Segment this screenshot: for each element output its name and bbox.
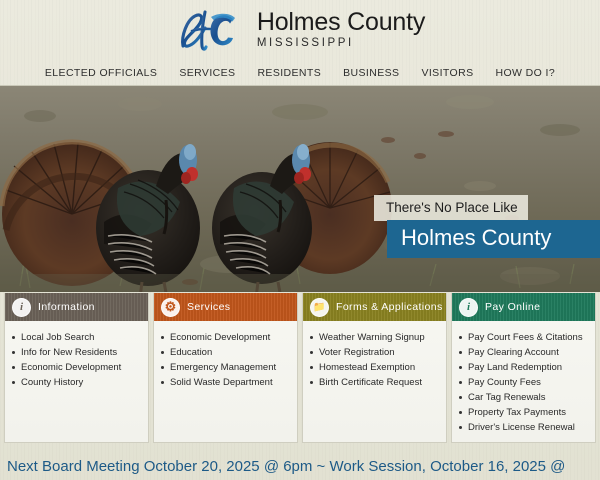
nav-services[interactable]: SERVICES xyxy=(179,67,235,79)
list-item[interactable]: Weather Warning Signup xyxy=(319,330,440,345)
list-item[interactable]: Pay County Fees xyxy=(468,375,589,390)
main-navigation: ELECTED OFFICIALS SERVICES RESIDENTS BUS… xyxy=(0,60,600,86)
quick-link-boxes: i Information Local Job Search Info for … xyxy=(0,293,600,443)
box-information-list: Local Job Search Info for New Residents … xyxy=(5,321,148,396)
list-item[interactable]: Info for New Residents xyxy=(21,345,142,360)
list-item[interactable]: Pay Court Fees & Citations xyxy=(468,330,589,345)
hero-turkey-photo xyxy=(0,86,600,292)
box-forms-list: Weather Warning Signup Voter Registratio… xyxy=(303,321,446,396)
nav-how-do-i[interactable]: HOW DO I? xyxy=(495,67,555,79)
list-item[interactable]: Economic Development xyxy=(21,360,142,375)
info-icon: i xyxy=(12,298,31,317)
list-item[interactable]: Solid Waste Department xyxy=(170,375,291,390)
box-pay-online-title: Pay Online xyxy=(485,301,540,313)
list-item[interactable]: Homestead Exemption xyxy=(319,360,440,375)
announcement-ticker-text: Next Board Meeting October 20, 2025 @ 6p… xyxy=(7,458,565,475)
nav-elected-officials[interactable]: ELECTED OFFICIALS xyxy=(45,67,157,79)
list-item[interactable]: Education xyxy=(170,345,291,360)
gears-icon: ⚙ xyxy=(161,298,180,317)
list-item[interactable]: County History xyxy=(21,375,142,390)
box-information-header[interactable]: i Information xyxy=(5,293,148,321)
box-pay-online-header[interactable]: i Pay Online xyxy=(452,293,595,321)
box-forms-title: Forms & Applications xyxy=(336,301,443,313)
list-item[interactable]: Economic Development xyxy=(170,330,291,345)
list-item[interactable]: Pay Land Redemption xyxy=(468,360,589,375)
box-forms-header[interactable]: 📁 Forms & Applications xyxy=(303,293,446,321)
site-header: Holmes County MISSISSIPPI xyxy=(0,0,600,60)
list-item[interactable]: Pay Clearing Account xyxy=(468,345,589,360)
box-services-list: Economic Development Education Emergency… xyxy=(154,321,297,396)
nav-business[interactable]: BUSINESS xyxy=(343,67,399,79)
list-item[interactable]: Local Job Search xyxy=(21,330,142,345)
box-forms-and-applications: 📁 Forms & Applications Weather Warning S… xyxy=(302,293,447,443)
box-services-title: Services xyxy=(187,301,230,313)
site-brand[interactable]: Holmes County MISSISSIPPI xyxy=(175,6,425,54)
box-services-header[interactable]: ⚙ Services xyxy=(154,293,297,321)
hc-monogram-icon xyxy=(175,6,247,54)
box-pay-online-list: Pay Court Fees & Citations Pay Clearing … xyxy=(452,321,595,441)
hero-tagline-top: There's No Place Like xyxy=(374,195,528,221)
list-item[interactable]: Emergency Management xyxy=(170,360,291,375)
nav-residents[interactable]: RESIDENTS xyxy=(257,67,321,79)
box-services: ⚙ Services Economic Development Educatio… xyxy=(153,293,298,443)
announcement-ticker: Next Board Meeting October 20, 2025 @ 6p… xyxy=(0,452,600,480)
folder-icon: 📁 xyxy=(310,298,329,317)
list-item[interactable]: Driver's License Renewal xyxy=(468,420,589,435)
box-information: i Information Local Job Search Info for … xyxy=(4,293,149,443)
list-item[interactable]: Voter Registration xyxy=(319,345,440,360)
site-title: Holmes County xyxy=(257,10,425,35)
hero-tagline-main: Holmes County xyxy=(387,220,600,258)
nav-visitors[interactable]: VISITORS xyxy=(421,67,473,79)
list-item[interactable]: Car Tag Renewals xyxy=(468,390,589,405)
box-pay-online: i Pay Online Pay Court Fees & Citations … xyxy=(451,293,596,443)
box-information-title: Information xyxy=(38,301,95,313)
site-subtitle: MISSISSIPPI xyxy=(257,38,425,50)
list-item[interactable]: Property Tax Payments xyxy=(468,405,589,420)
info-icon: i xyxy=(459,298,478,317)
list-item[interactable]: Birth Certificate Request xyxy=(319,375,440,390)
hero-banner[interactable]: There's No Place Like Holmes County xyxy=(0,86,600,292)
